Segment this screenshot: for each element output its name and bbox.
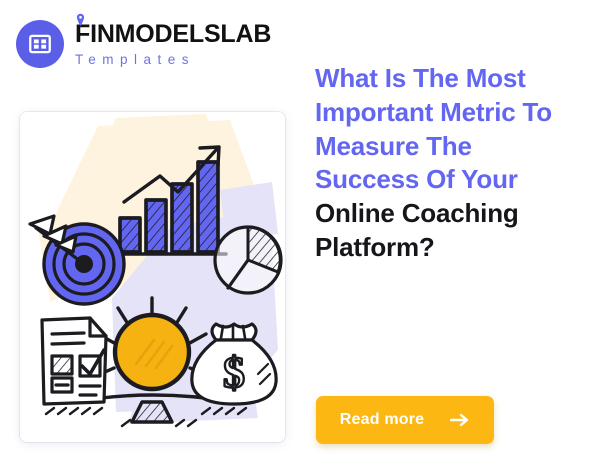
brand-text: FINMODELSLAB Templates <box>75 22 271 67</box>
brand-tagline: Templates <box>75 53 271 67</box>
illustration-card: $ <box>20 112 285 442</box>
page-title: What Is The Most Important Metric To Mea… <box>315 62 585 265</box>
headline-line: Measure The <box>315 130 585 164</box>
headline-line: Platform? <box>315 231 585 265</box>
headline-line: Success Of Your <box>315 163 585 197</box>
idea-coin-icon <box>115 315 189 389</box>
pie-chart-icon <box>215 227 281 293</box>
headline-line: What Is The Most <box>315 62 585 96</box>
brand-mark <box>16 20 64 68</box>
business-metrics-illustration: $ <box>20 112 285 442</box>
brand-name: FINMODELSLAB <box>75 22 271 47</box>
document-checklist-icon <box>42 318 106 404</box>
headline-line: Important Metric To <box>315 96 585 130</box>
read-more-button[interactable]: Read more <box>316 396 494 444</box>
map-pin-icon <box>76 13 85 27</box>
headline-line: Online Coaching <box>315 197 585 231</box>
brand-logo[interactable]: FINMODELSLAB Templates <box>16 20 271 68</box>
svg-text:$: $ <box>223 348 245 397</box>
social-card: FINMODELSLAB Templates <box>0 0 600 464</box>
read-more-label: Read more <box>340 411 425 429</box>
grid-squares-icon <box>27 31 53 57</box>
arrow-right-icon <box>450 413 470 427</box>
